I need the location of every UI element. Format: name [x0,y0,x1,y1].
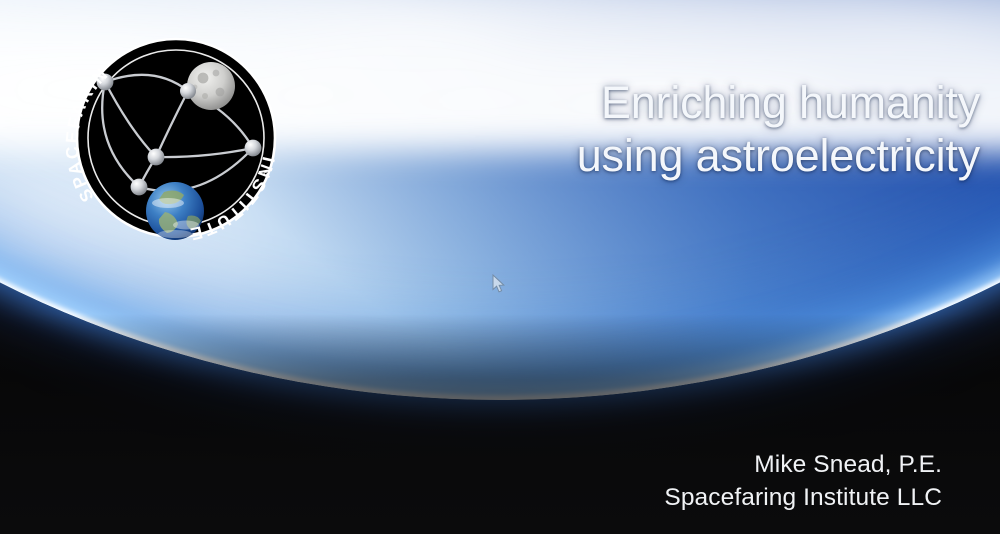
slide-title-line1: Enriching humanity [601,77,980,128]
mouse-pointer-icon [492,274,505,293]
presentation-slide: SPACEFARING INSTITUTE ™ Enriching humani… [0,0,1000,534]
slide-byline: Mike Snead, P.E. Spacefaring Institute L… [440,449,942,514]
slide-title: Enriching humanity using astroelectricit… [420,76,980,182]
byline-organization: Spacefaring Institute LLC [440,482,942,515]
spacefaring-institute-logo[interactable]: SPACEFARING INSTITUTE ™ [64,26,288,250]
byline-author: Mike Snead, P.E. [754,451,942,478]
slide-title-line2: using astroelectricity [420,129,980,182]
logo-badge: SPACEFARING INSTITUTE ™ [64,26,288,250]
